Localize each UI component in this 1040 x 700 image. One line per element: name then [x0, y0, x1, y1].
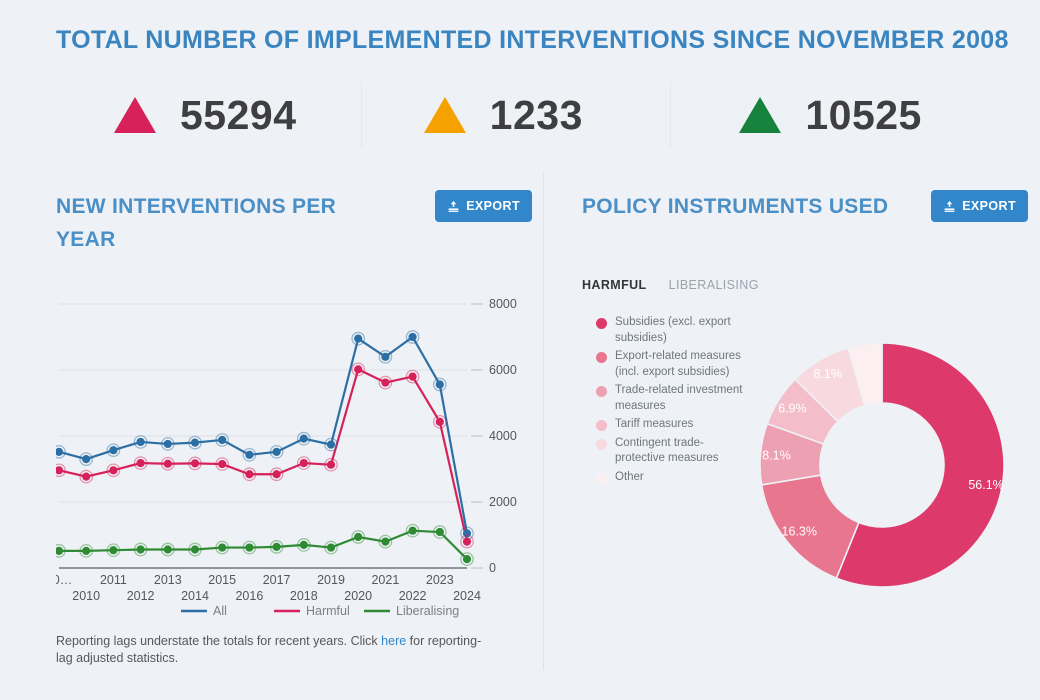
chart-series-group	[56, 331, 473, 565]
legend-color-swatch	[596, 420, 607, 431]
legend-item-label: Trade-related investment measures	[615, 383, 746, 414]
svg-text:2018: 2018	[290, 589, 318, 603]
kpi-harmful-value: 1233	[490, 95, 583, 136]
legend-color-swatch	[596, 318, 607, 329]
legend-item[interactable]: Subsidies (excl. export subsidies)	[596, 315, 746, 346]
svg-text:8000: 8000	[489, 297, 517, 311]
svg-text:2020: 2020	[344, 589, 372, 603]
donut-legend: Subsidies (excl. export subsidies)Export…	[596, 315, 746, 488]
svg-text:2024: 2024	[453, 589, 481, 603]
legend-item[interactable]: Trade-related investment measures	[596, 383, 746, 414]
kpi-harmful: 1233	[362, 95, 671, 136]
legend-item-label: Export-related measures (incl. export su…	[615, 349, 746, 380]
footnote-link[interactable]: here	[381, 634, 406, 648]
legend-color-swatch	[596, 439, 607, 450]
export-button-right[interactable]: EXPORT	[931, 190, 1028, 222]
footnote-text-before: Reporting lags understate the totals for…	[56, 634, 381, 648]
tab-liberalising[interactable]: LIBERALISING	[669, 278, 759, 292]
svg-text:2023: 2023	[426, 573, 454, 587]
page-title: Total number of implemented intervention…	[56, 26, 1009, 55]
svg-text:2017: 2017	[263, 573, 291, 587]
dashboard-root: Total number of implemented intervention…	[0, 0, 1040, 700]
chart-footnote: Reporting lags understate the totals for…	[56, 633, 496, 667]
svg-text:0: 0	[489, 561, 496, 575]
svg-text:8.1%: 8.1%	[762, 448, 791, 462]
triangle-up-icon	[424, 97, 466, 133]
legend-item-label: Other	[615, 470, 644, 486]
svg-text:Harmful: Harmful	[306, 604, 350, 618]
svg-text:4000: 4000	[489, 429, 517, 443]
right-panel-title: Policy instruments used	[582, 190, 912, 223]
svg-text:2012: 2012	[127, 589, 155, 603]
legend-item-label: Contingent trade-protective measures	[615, 436, 746, 467]
svg-text:8.1%: 8.1%	[814, 367, 843, 381]
legend-color-swatch	[596, 386, 607, 397]
new-interventions-panel: New interventions per year EXPORT 020004…	[56, 190, 532, 660]
svg-text:2016: 2016	[235, 589, 263, 603]
svg-text:2014: 2014	[181, 589, 209, 603]
panel-divider	[543, 172, 544, 670]
export-button-left-label: EXPORT	[466, 199, 520, 213]
chart-y-axis-labels: 02000400060008000	[489, 297, 517, 575]
legend-item[interactable]: Other	[596, 470, 746, 486]
kpi-liberalising-value: 10525	[805, 95, 922, 136]
export-icon	[943, 200, 956, 213]
legend-color-swatch	[596, 473, 607, 484]
triangle-up-icon	[114, 97, 156, 133]
svg-text:2013: 2013	[154, 573, 182, 587]
tab-harmful[interactable]: HARMFUL	[582, 278, 647, 292]
svg-text:2000: 2000	[489, 495, 517, 509]
export-button-left[interactable]: EXPORT	[435, 190, 532, 222]
kpi-liberalising: 10525	[671, 95, 986, 136]
svg-text:2015: 2015	[208, 573, 236, 587]
svg-text:2021: 2021	[371, 573, 399, 587]
svg-text:16.3%: 16.3%	[782, 524, 817, 538]
svg-text:Liberalising: Liberalising	[396, 604, 459, 618]
kpi-all: 55294	[56, 95, 361, 136]
donut-chart-wrap: Subsidies (excl. export subsidies)Export…	[582, 315, 1030, 575]
chart-gridlines	[59, 304, 483, 568]
svg-text:All: All	[213, 604, 227, 618]
svg-text:2019: 2019	[317, 573, 345, 587]
legend-item-label: Subsidies (excl. export subsidies)	[615, 315, 746, 346]
kpi-all-value: 55294	[180, 95, 297, 136]
svg-text:6000: 6000	[489, 363, 517, 377]
legend-item[interactable]: Export-related measures (incl. export su…	[596, 349, 746, 380]
legend-color-swatch	[596, 352, 607, 363]
donut-slices	[760, 343, 1004, 587]
svg-text:20…: 20…	[56, 573, 72, 587]
policy-instruments-donut-chart: 56.1%16.3%8.1%6.9%8.1%	[752, 335, 1012, 595]
svg-text:6.9%: 6.9%	[778, 401, 807, 415]
triangle-up-icon	[739, 97, 781, 133]
kpi-row: 55294 1233 10525	[56, 82, 986, 148]
left-panel-title: New interventions per year	[56, 190, 386, 256]
policy-instruments-tabs: HARMFUL LIBERALISING	[582, 278, 759, 292]
svg-text:56.1%: 56.1%	[968, 478, 1003, 492]
export-button-right-label: EXPORT	[962, 199, 1016, 213]
policy-instruments-panel: Policy instruments used EXPORT HARMFUL L…	[582, 190, 1030, 660]
legend-item-label: Tariff measures	[615, 417, 693, 433]
new-interventions-line-chart: 02000400060008000 20…2010201120122013201…	[56, 290, 532, 620]
legend-item[interactable]: Contingent trade-protective measures	[596, 436, 746, 467]
svg-text:2010: 2010	[72, 589, 100, 603]
legend-item[interactable]: Tariff measures	[596, 417, 746, 433]
chart-x-axis-labels: 20…2010201120122013201420152016201720182…	[56, 573, 481, 603]
svg-text:2011: 2011	[100, 573, 127, 587]
svg-text:2022: 2022	[399, 589, 427, 603]
export-icon	[447, 200, 460, 213]
chart-legend: AllHarmfulLiberalising	[181, 604, 459, 618]
